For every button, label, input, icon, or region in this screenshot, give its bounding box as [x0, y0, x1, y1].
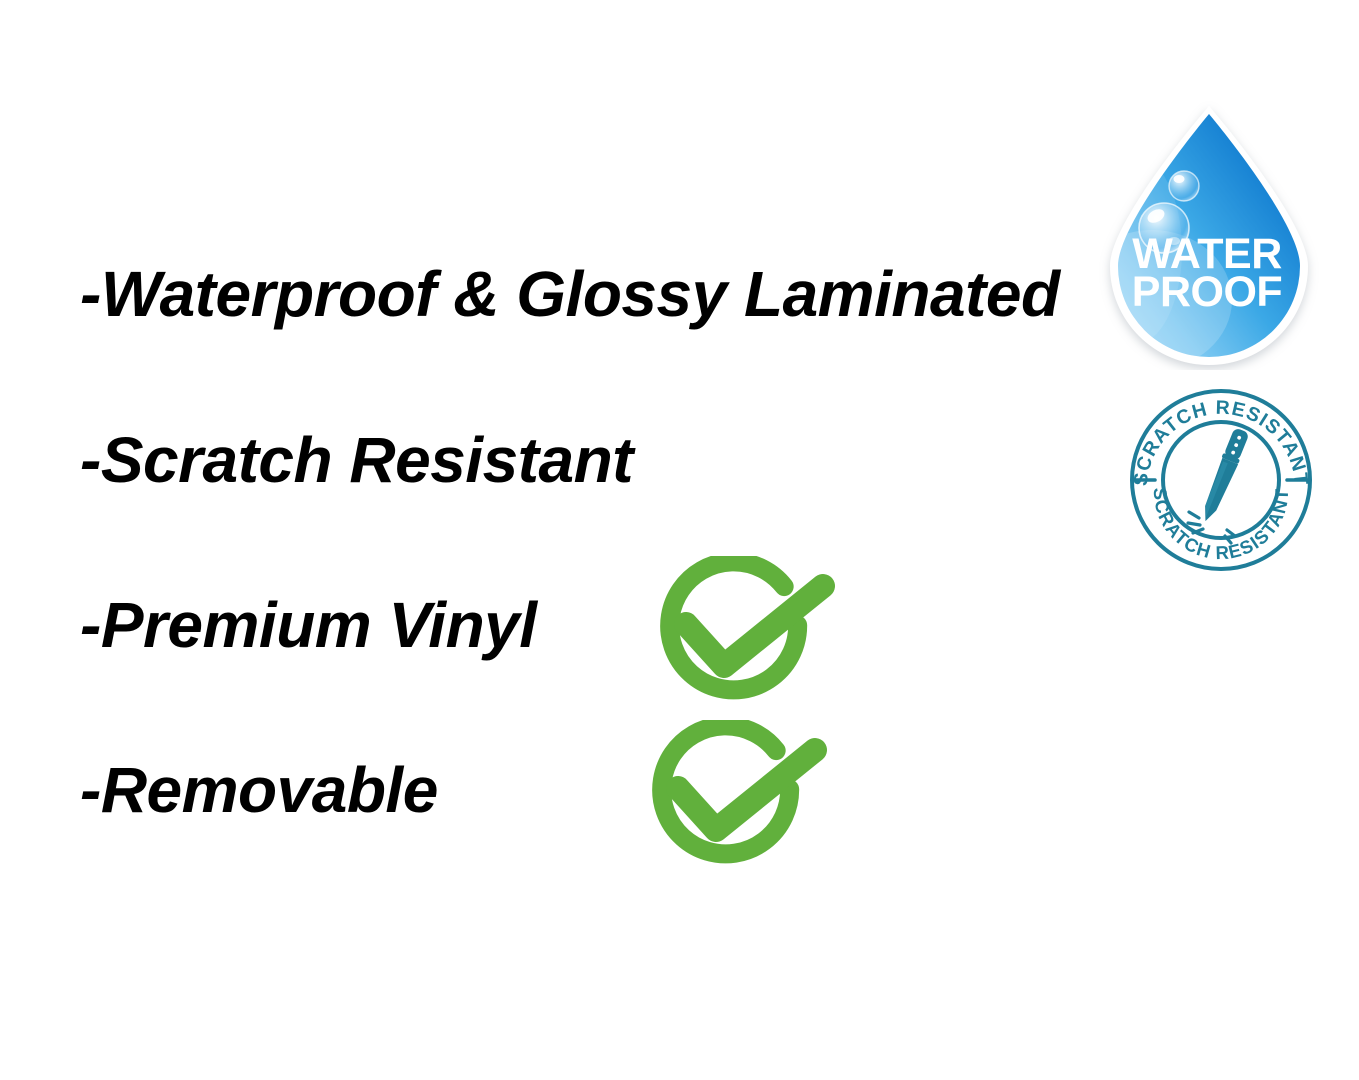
check-mark-icon — [632, 720, 832, 872]
waterproof-badge: WATER PROOF — [1094, 100, 1324, 370]
feature-list: -Waterproof & Glossy Laminated -Scratch … — [0, 0, 1120, 1080]
knife-icon — [1197, 427, 1250, 525]
feature-item-removable: -Removable — [80, 758, 438, 822]
scratch-resistant-badge: SCRATCH RESISTANT SCRATCH RESISTANT — [1125, 384, 1317, 576]
feature-item-label-1: -Scratch Resistant — [80, 424, 633, 496]
feature-graphic-canvas: -Waterproof & Glossy Laminated -Scratch … — [0, 0, 1359, 1080]
waterproof-label-line2: PROOF — [1132, 268, 1282, 316]
feature-item-label-3: -Removable — [80, 754, 438, 826]
feature-item-label-2: -Premium Vinyl — [80, 589, 537, 661]
water-bubble-icon — [1169, 171, 1199, 201]
check-mark-icon — [640, 556, 840, 708]
feature-item-label-0: -Waterproof & Glossy Laminated — [80, 258, 1060, 330]
feature-item-premium-vinyl: -Premium Vinyl — [80, 593, 537, 657]
feature-item-waterproof: -Waterproof & Glossy Laminated — [80, 262, 1060, 326]
feature-item-scratch-resistant: -Scratch Resistant — [80, 428, 633, 492]
